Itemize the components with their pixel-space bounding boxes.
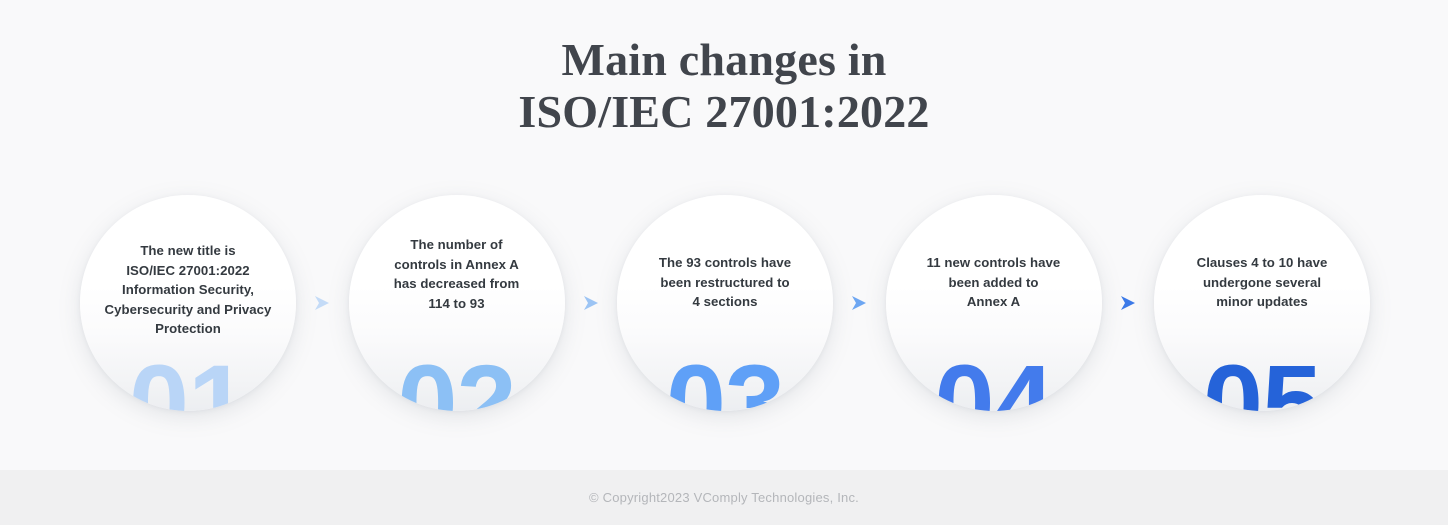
step-circle-03: The 93 controls have been restructured t… <box>617 195 833 411</box>
arrow-icon-4 <box>1115 290 1141 316</box>
step-number-04: 04 <box>886 349 1102 411</box>
step-text-03: The 93 controls have been restructured t… <box>623 253 827 312</box>
step-number-05: 05 <box>1154 349 1370 411</box>
step-text-02: The number of controls in Annex A has de… <box>355 235 559 313</box>
step-number-02: 02 <box>349 349 565 411</box>
step-circle-04: 11 new controls have been added to Annex… <box>886 195 1102 411</box>
page-title-line-1: Main changes in <box>0 34 1448 86</box>
step-circle-01: The new title is ISO/IEC 27001:2022 Info… <box>80 195 296 411</box>
page-title: Main changes in ISO/IEC 27001:2022 <box>0 34 1448 138</box>
step-number-01: 01 <box>80 349 296 411</box>
step-circle-05: Clauses 4 to 10 have undergone several m… <box>1154 195 1370 411</box>
page-title-line-2: ISO/IEC 27001:2022 <box>0 86 1448 138</box>
step-text-04: 11 new controls have been added to Annex… <box>892 253 1096 312</box>
step-text-01: The new title is ISO/IEC 27001:2022 Info… <box>86 241 290 339</box>
step-number-03: 03 <box>617 349 833 411</box>
arrow-icon-3 <box>846 290 872 316</box>
arrow-icon-2 <box>578 290 604 316</box>
footer-band: © Copyright2023 VComply Technologies, In… <box>0 470 1448 525</box>
step-circle-02: The number of controls in Annex A has de… <box>349 195 565 411</box>
step-text-05: Clauses 4 to 10 have undergone several m… <box>1160 253 1364 312</box>
footer-copyright: © Copyright2023 VComply Technologies, In… <box>589 490 859 505</box>
steps-flow: The new title is ISO/IEC 27001:2022 Info… <box>80 195 1370 411</box>
arrow-icon-1 <box>309 290 335 316</box>
